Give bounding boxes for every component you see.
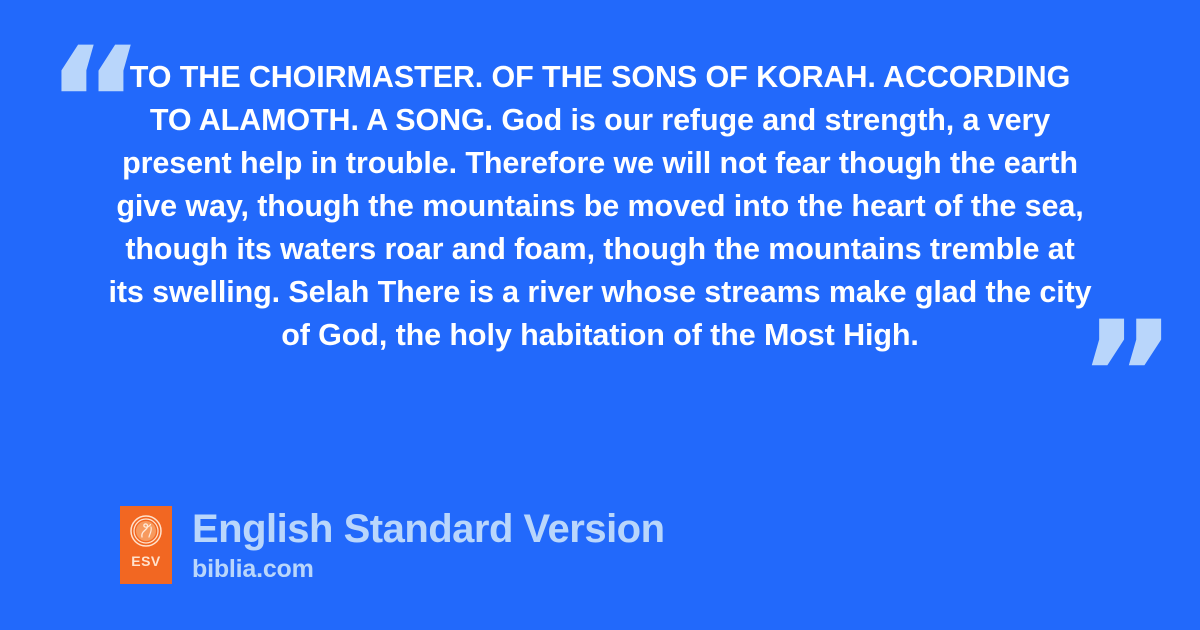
verse-card: “ TO THE CHOIRMASTER. OF THE SONS OF KOR… bbox=[0, 0, 1200, 630]
verse-block: TO THE CHOIRMASTER. OF THE SONS OF KORAH… bbox=[60, 56, 1140, 357]
site-url-label[interactable]: biblia.com bbox=[192, 554, 665, 584]
bible-version-name: English Standard Version bbox=[192, 506, 665, 552]
esv-abbreviation-label: ESV bbox=[131, 554, 161, 568]
attribution[interactable]: ESV English Standard Version biblia.com bbox=[120, 506, 665, 584]
seal-medallion-icon bbox=[130, 515, 162, 547]
attribution-text: English Standard Version biblia.com bbox=[192, 506, 665, 584]
verse-text: TO THE CHOIRMASTER. OF THE SONS OF KORAH… bbox=[60, 56, 1140, 357]
closing-quote-icon: ” bbox=[1078, 302, 1173, 452]
esv-logo-badge[interactable]: ESV bbox=[120, 506, 172, 584]
